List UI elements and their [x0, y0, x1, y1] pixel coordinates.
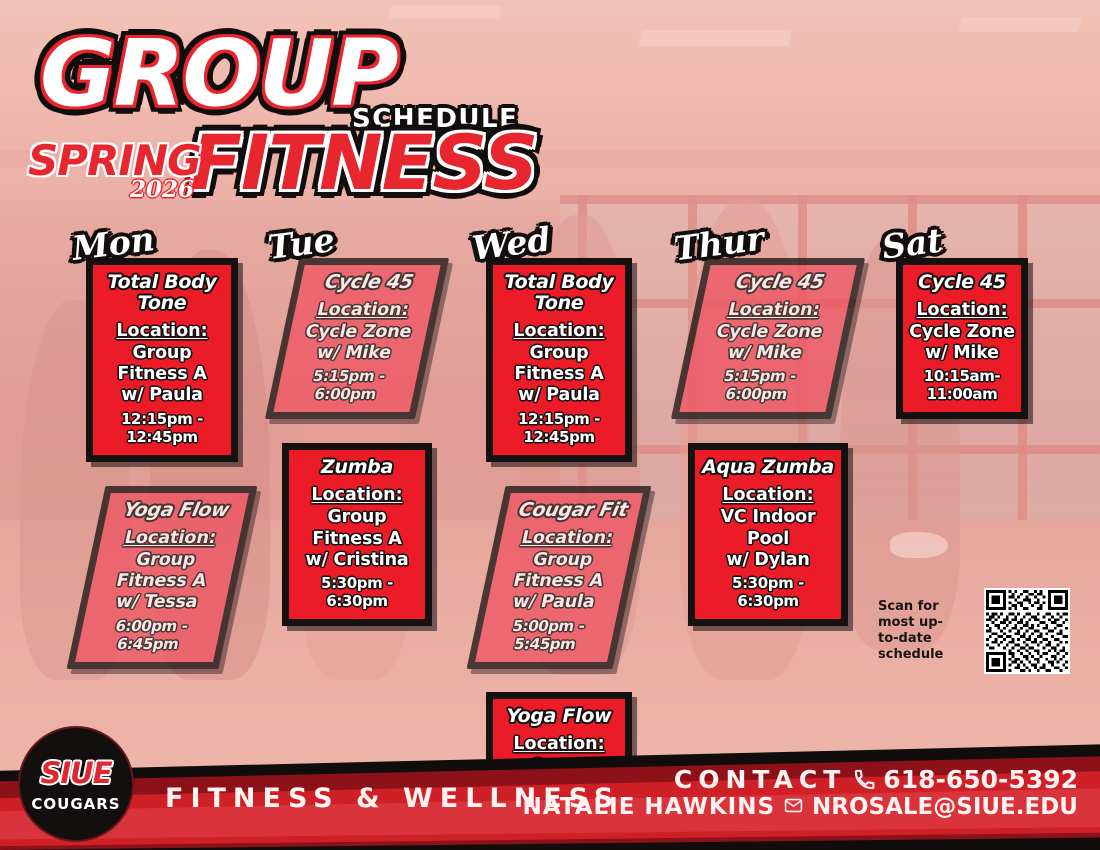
class-instructor: w/ Dylan	[701, 550, 835, 571]
class-time: 5:00pm - 5:45pm	[483, 616, 611, 652]
day-column-mon: MonTotal Body ToneLocation:Group Fitness…	[86, 232, 238, 692]
class-card[interactable]: Cougar FitLocation:Group Fitness Aw/ Pau…	[467, 486, 652, 669]
location-label: Location:	[99, 321, 225, 343]
title-word-fitness: FITNESS	[190, 118, 537, 207]
class-location: Group Fitness A	[499, 343, 619, 386]
class-time: 12:15pm - 12:45pm	[499, 410, 619, 446]
class-location: Cycle Zone	[909, 322, 1015, 343]
footer-bar: SIUE COUGARS FITNESS & WELLNESS CONTACT …	[0, 720, 1100, 850]
class-card-stack: Total Body ToneLocation:Group Fitness Aw…	[86, 258, 238, 668]
location-label: Location:	[499, 321, 619, 343]
class-card[interactable]: Cycle 45Location:Cycle Zonew/ Mike5:15pm…	[671, 258, 865, 419]
day-label-tue: Tue	[266, 220, 337, 267]
contact-person-name: NATALIE HAWKINS	[523, 794, 775, 820]
class-name: Cycle 45	[909, 272, 1015, 293]
class-location: Cycle Zone	[700, 322, 839, 343]
qr-caption-line2: to-date schedule	[878, 631, 974, 664]
class-name: Zumba	[295, 457, 419, 478]
class-time: 5:15pm - 6:00pm	[687, 367, 829, 403]
class-card[interactable]: Cycle 45Location:Cycle Zonew/ Mike10:15a…	[896, 258, 1028, 419]
qr-caption-line1: Scan for most up-	[878, 599, 974, 632]
class-card[interactable]: Total Body ToneLocation:Group Fitness Aw…	[86, 258, 238, 462]
class-card[interactable]: Total Body ToneLocation:Group Fitness Aw…	[486, 258, 632, 462]
location-label: Location:	[705, 300, 844, 322]
class-card[interactable]: Aqua ZumbaLocation:VC Indoor Poolw/ Dyla…	[688, 443, 848, 626]
class-location: Group Fitness A	[496, 549, 625, 592]
logo-cougars-text: COUGARS	[31, 795, 120, 813]
contact-email[interactable]: NROSALE@SIUE.EDU	[812, 794, 1078, 820]
class-location: Cycle Zone	[294, 322, 423, 343]
location-label: Location:	[105, 528, 236, 550]
contact-email-row: NATALIE HAWKINS NROSALE@SIUE.EDU	[523, 794, 1078, 820]
class-instructor: w/ Mike	[909, 343, 1015, 364]
class-name: Total Body Tone	[499, 272, 619, 314]
class-time: 12:15pm - 12:45pm	[99, 410, 225, 446]
class-instructor: w/ Cristina	[295, 550, 419, 571]
group-fitness-schedule-poster: GROUP SCHEDULE FITNESS SPRING 2026 MonTo…	[0, 0, 1100, 850]
class-location: Group Fitness A	[99, 343, 225, 386]
class-name: Total Body Tone	[99, 272, 225, 314]
contact-label: CONTACT	[674, 765, 846, 794]
class-location: VC Indoor Pool	[701, 507, 835, 550]
title-year: 2026	[130, 176, 194, 203]
poster-title-block: GROUP SCHEDULE FITNESS SPRING 2026	[22, 18, 542, 208]
contact-phone[interactable]: 618-650-5392	[883, 765, 1078, 794]
location-label: Location:	[505, 528, 630, 550]
class-card[interactable]: Yoga FlowLocation:Group Fitness Aw/ Tess…	[67, 486, 258, 669]
class-card[interactable]: Cycle 45Location:Cycle Zonew/ Mike5:15pm…	[265, 258, 449, 419]
location-label: Location:	[701, 485, 835, 507]
location-label: Location:	[909, 300, 1015, 322]
class-instructor: w/ Tessa	[91, 592, 222, 613]
contact-block: CONTACT 618-650-5392 NATALIE HAWKINS NRO…	[523, 765, 1078, 820]
day-column-thur: ThurCycle 45Location:Cycle Zonew/ Mike5:…	[688, 232, 848, 650]
location-label: Location:	[295, 485, 419, 507]
class-card[interactable]: ZumbaLocation:Group Fitness Aw/ Cristina…	[282, 443, 432, 626]
class-name: Cougar Fit	[511, 500, 635, 521]
logo-siue-text: SIUE	[40, 756, 111, 790]
class-location: Group Fitness A	[295, 507, 419, 550]
class-time: 10:15am- 11:00am	[909, 367, 1015, 403]
class-time: 6:00pm - 6:45pm	[83, 616, 217, 652]
day-label-sat: Sat	[880, 220, 945, 266]
class-name: Cycle 45	[711, 272, 849, 293]
class-card-stack: Cycle 45Location:Cycle Zonew/ Mike5:15pm…	[282, 258, 432, 626]
class-time: 5:15pm - 6:00pm	[281, 367, 413, 403]
class-instructor: w/ Paula	[99, 385, 225, 406]
qr-code-icon[interactable]	[984, 588, 1070, 674]
class-name: Yoga Flow	[111, 500, 241, 521]
class-time: 5:30pm - 6:30pm	[701, 574, 835, 610]
class-name: Cycle 45	[305, 272, 433, 293]
class-instructor: w/ Paula	[491, 592, 616, 613]
class-card-stack: Cycle 45Location:Cycle Zonew/ Mike5:15pm…	[688, 258, 848, 626]
day-column-sat: SatCycle 45Location:Cycle Zonew/ Mike10:…	[896, 232, 1028, 443]
day-column-tue: TueCycle 45Location:Cycle Zonew/ Mike5:1…	[282, 232, 432, 650]
qr-caption: Scan for most up- to-date schedule	[878, 599, 974, 664]
phone-icon	[853, 768, 876, 791]
contact-phone-row: CONTACT 618-650-5392	[523, 765, 1078, 794]
class-instructor: w/ Mike	[290, 343, 419, 364]
class-location: Group Fitness A	[96, 549, 231, 592]
class-time: 5:30pm - 6:30pm	[295, 574, 419, 610]
class-instructor: w/ Paula	[499, 385, 619, 406]
class-name: Aqua Zumba	[701, 457, 835, 478]
siue-cougars-logo: SIUE COUGARS	[18, 726, 134, 842]
class-instructor: w/ Mike	[696, 343, 835, 364]
title-word-group: GROUP	[40, 20, 397, 127]
qr-block: Scan for most up- to-date schedule	[878, 588, 1070, 674]
email-icon	[782, 796, 805, 819]
class-card-stack: Cycle 45Location:Cycle Zonew/ Mike10:15a…	[896, 258, 1028, 419]
location-label: Location:	[299, 300, 428, 322]
